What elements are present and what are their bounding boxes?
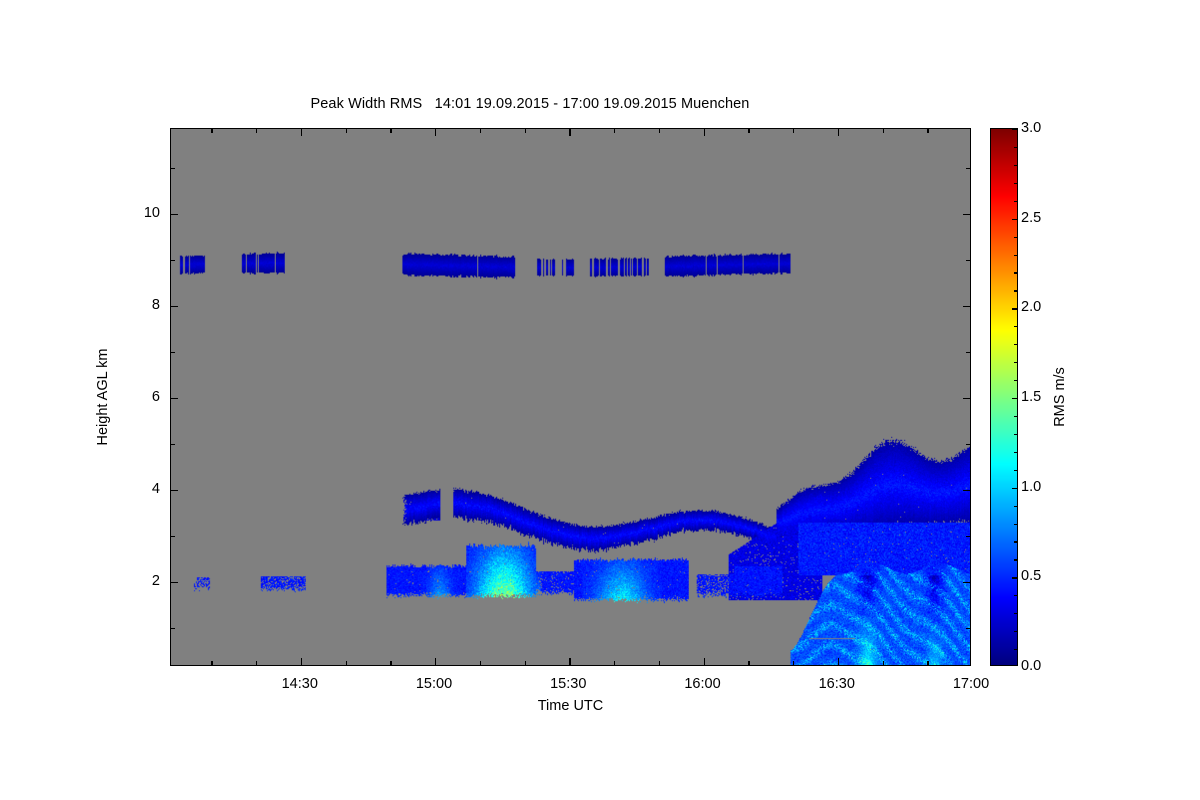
- colorbar-tick-minor: [1014, 613, 1017, 614]
- x-tick-minor: [256, 661, 257, 665]
- x-tick-major-top: [704, 129, 705, 136]
- colorbar-tick-major: [1012, 308, 1017, 309]
- x-tick-minor: [525, 661, 526, 665]
- x-tick-major: [301, 658, 302, 665]
- colorbar-tick-label: 2.0: [1021, 299, 1041, 315]
- colorbar-tick-minor: [1014, 559, 1017, 560]
- y-tick-minor: [171, 352, 175, 353]
- y-tick-minor-right: [966, 536, 970, 537]
- y-tick-major: [171, 582, 178, 583]
- x-tick-minor-top: [659, 129, 660, 133]
- x-tick-label: 16:00: [684, 676, 720, 692]
- colorbar-tick-major: [1012, 129, 1017, 130]
- x-tick-major-top: [435, 129, 436, 136]
- y-tick-major: [171, 306, 178, 307]
- colorbar-tick-label: 2.5: [1021, 210, 1041, 226]
- colorbar-tick-minor: [1014, 380, 1017, 381]
- y-tick-major-right: [963, 214, 970, 215]
- colorbar-tick-minor: [1014, 524, 1017, 525]
- colorbar-tick-minor: [1014, 649, 1017, 650]
- y-tick-minor-right: [966, 628, 970, 629]
- colorbar-tick-minor: [1014, 237, 1017, 238]
- x-tick-label: 15:00: [416, 676, 452, 692]
- x-tick-label: 16:30: [819, 676, 855, 692]
- x-tick-major-top: [569, 129, 570, 136]
- y-tick-major: [171, 490, 178, 491]
- y-tick-minor: [171, 536, 175, 537]
- x-tick-minor-top: [211, 129, 212, 133]
- colorbar-tick-minor: [1014, 290, 1017, 291]
- x-tick-minor-top: [480, 129, 481, 133]
- y-tick-label: 10: [122, 205, 160, 221]
- colorbar-tick-minor: [1014, 165, 1017, 166]
- y-tick-minor: [171, 260, 175, 261]
- x-tick-minor-top: [883, 129, 884, 133]
- x-tick-minor-top: [614, 129, 615, 133]
- colorbar-tick-minor: [1014, 631, 1017, 632]
- x-tick-major-top: [301, 129, 302, 136]
- colorbar-tick-major: [1012, 488, 1017, 489]
- colorbar-tick-minor: [1014, 326, 1017, 327]
- colorbar-tick-label: 0.5: [1021, 568, 1041, 584]
- y-tick-minor-right: [966, 168, 970, 169]
- y-tick-major: [171, 398, 178, 399]
- y-tick-label: 6: [122, 389, 160, 405]
- y-axis-label: Height AGL km: [95, 349, 111, 446]
- x-tick-minor-top: [256, 129, 257, 133]
- y-tick-label: 4: [122, 481, 160, 497]
- x-tick-minor: [659, 661, 660, 665]
- x-tick-major: [569, 658, 570, 665]
- colorbar-tick-minor: [1014, 201, 1017, 202]
- x-tick-minor: [614, 661, 615, 665]
- y-tick-minor-right: [966, 260, 970, 261]
- colorbar-tick-minor: [1014, 434, 1017, 435]
- y-tick-minor: [171, 168, 175, 169]
- colorbar-tick-minor: [1014, 470, 1017, 471]
- y-tick-minor-right: [966, 352, 970, 353]
- colorbar-tick-major: [1012, 577, 1017, 578]
- y-tick-major: [171, 214, 178, 215]
- colorbar-tick-minor: [1014, 416, 1017, 417]
- y-tick-major-right: [963, 490, 970, 491]
- colorbar-tick-major: [1012, 398, 1017, 399]
- y-tick-minor: [171, 628, 175, 629]
- y-tick-major-right: [963, 582, 970, 583]
- colorbar-tick-label: 1.0: [1021, 479, 1041, 495]
- colorbar-tick-label: 3.0: [1021, 120, 1041, 136]
- x-tick-minor-top: [525, 129, 526, 133]
- x-tick-minor-top: [748, 129, 749, 133]
- colorbar-tick-major: [1012, 219, 1017, 220]
- page-title: Peak Width RMS 14:01 19.09.2015 - 17:00 …: [0, 96, 1060, 112]
- x-tick-minor: [793, 661, 794, 665]
- x-tick-major: [838, 658, 839, 665]
- x-tick-minor: [883, 661, 884, 665]
- x-tick-minor: [480, 661, 481, 665]
- plot-area[interactable]: [170, 128, 971, 666]
- heatmap-canvas: [171, 129, 970, 665]
- colorbar-title: RMS m/s: [1052, 367, 1068, 427]
- x-tick-label: 17:00: [953, 676, 989, 692]
- colorbar-gradient: [991, 129, 1017, 665]
- y-tick-minor: [171, 444, 175, 445]
- colorbar-tick-minor: [1014, 362, 1017, 363]
- x-tick-minor: [390, 661, 391, 665]
- colorbar-tick-minor: [1014, 272, 1017, 273]
- colorbar-tick-minor: [1014, 344, 1017, 345]
- y-tick-major-right: [963, 398, 970, 399]
- colorbar-tick-minor: [1014, 183, 1017, 184]
- colorbar-tick-major: [1012, 665, 1017, 666]
- x-axis-label: Time UTC: [170, 698, 971, 714]
- y-tick-label: 2: [122, 573, 160, 589]
- x-tick-minor-top: [793, 129, 794, 133]
- colorbar-tick-minor: [1014, 255, 1017, 256]
- x-tick-label: 14:30: [282, 676, 318, 692]
- colorbar-tick-minor: [1014, 452, 1017, 453]
- colorbar-tick-minor: [1014, 147, 1017, 148]
- colorbar-tick-minor: [1014, 506, 1017, 507]
- x-tick-major-top: [838, 129, 839, 136]
- x-tick-minor-top: [927, 129, 928, 133]
- y-tick-major-right: [963, 306, 970, 307]
- colorbar-tick-label: 0.0: [1021, 658, 1041, 674]
- x-tick-label: 15:30: [550, 676, 586, 692]
- y-tick-label: 8: [122, 297, 160, 313]
- x-tick-minor-top: [390, 129, 391, 133]
- colorbar-tick-minor: [1014, 541, 1017, 542]
- x-tick-minor-top: [346, 129, 347, 133]
- x-tick-minor: [927, 661, 928, 665]
- y-tick-minor-right: [966, 444, 970, 445]
- colorbar[interactable]: [990, 128, 1018, 666]
- x-tick-minor: [748, 661, 749, 665]
- x-tick-minor: [346, 661, 347, 665]
- colorbar-tick-label: 1.5: [1021, 389, 1041, 405]
- colorbar-tick-minor: [1014, 595, 1017, 596]
- x-tick-major: [704, 658, 705, 665]
- figure-canvas: Peak Width RMS 14:01 19.09.2015 - 17:00 …: [0, 0, 1200, 800]
- x-tick-minor: [211, 661, 212, 665]
- x-tick-major: [435, 658, 436, 665]
